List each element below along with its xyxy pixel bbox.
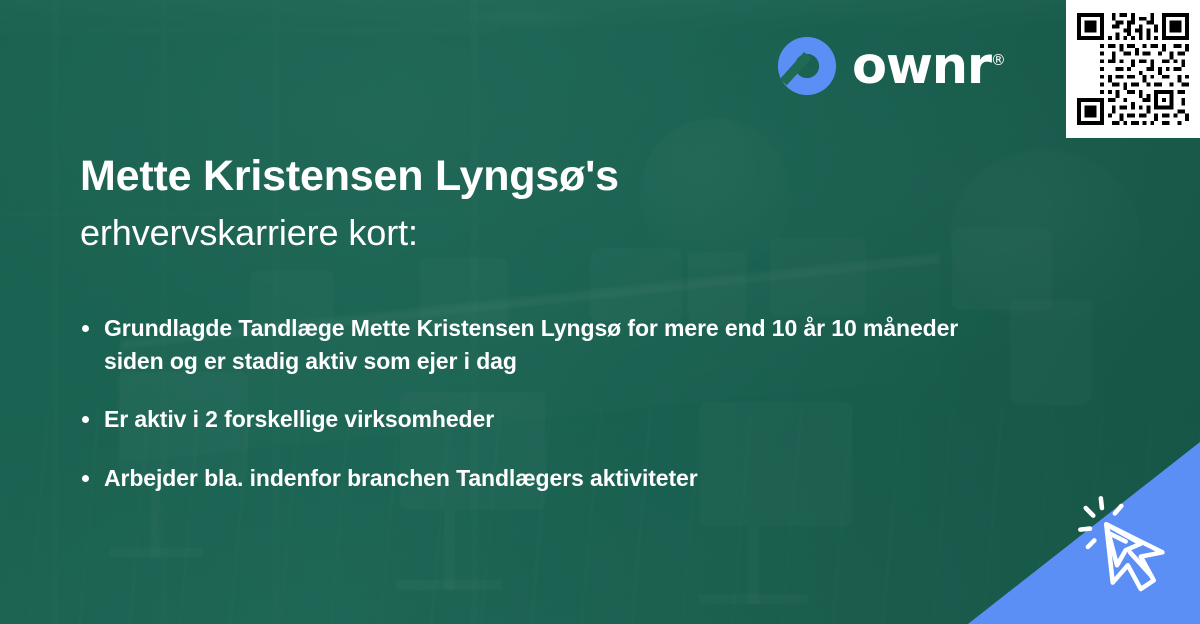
list-item: Arbejder bla. indenfor branchen Tandlæge…	[80, 462, 980, 495]
headline-block: Mette Kristensen Lyngsø's erhvervskarrie…	[80, 152, 960, 255]
ownr-wordmark-text: ownr	[852, 37, 991, 96]
qr-code-icon[interactable]	[1077, 13, 1189, 125]
qr-code-panel[interactable]	[1066, 0, 1200, 138]
career-facts-list: Grundlagde Tandlæge Mette Kristensen Lyn…	[80, 312, 980, 495]
list-item: Grundlagde Tandlæge Mette Kristensen Lyn…	[80, 312, 980, 377]
registered-mark: ®	[991, 51, 1006, 69]
business-card-graphic: ownr®	[0, 0, 1200, 624]
ownr-wordmark: ownr®	[852, 41, 1006, 92]
page-title: Mette Kristensen Lyngsø's	[80, 152, 960, 201]
ownr-logo: ownr®	[776, 35, 1006, 97]
bullet-dot-icon	[82, 416, 89, 423]
list-item-text: Er aktiv i 2 forskellige virksomheder	[104, 406, 494, 432]
list-item: Er aktiv i 2 forskellige virksomheder	[80, 403, 980, 436]
page-subtitle: erhvervskarriere kort:	[80, 211, 960, 254]
bullet-dot-icon	[82, 475, 89, 482]
ownr-circle-swoosh-icon	[776, 35, 838, 97]
list-item-text: Arbejder bla. indenfor branchen Tandlæge…	[104, 465, 698, 491]
click-cursor-icon	[1076, 494, 1184, 602]
bullet-dot-icon	[82, 325, 89, 332]
list-item-text: Grundlagde Tandlæge Mette Kristensen Lyn…	[104, 315, 958, 374]
